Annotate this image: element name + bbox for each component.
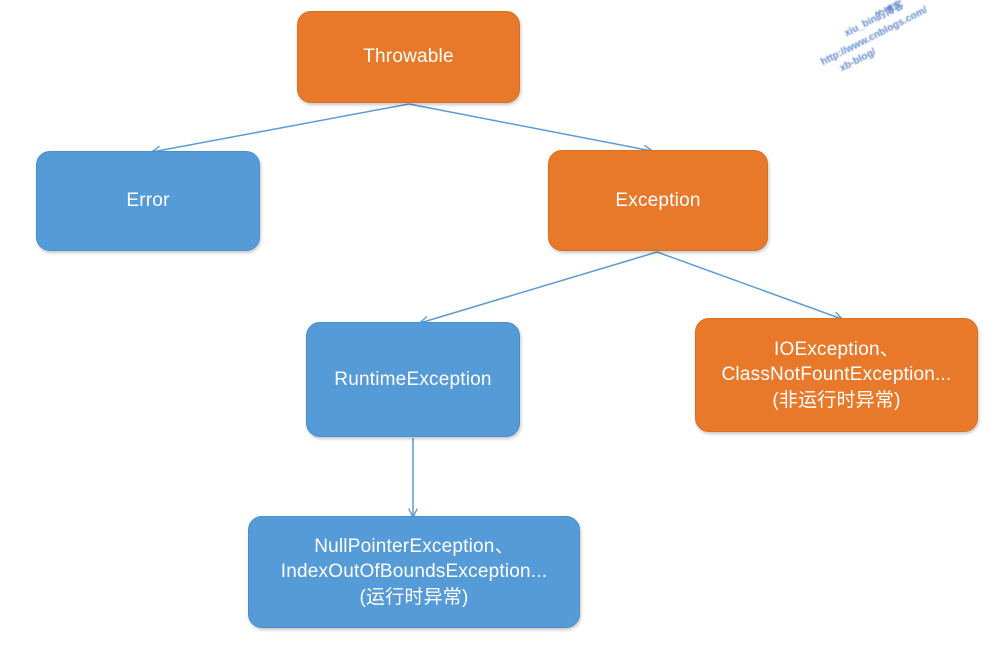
diagram-canvas: Throwable Error Exception RuntimeExcepti… xyxy=(0,0,1000,656)
edge-throwable-exception xyxy=(409,104,652,151)
node-runtime-exception[interactable]: RuntimeException xyxy=(306,322,520,437)
node-error[interactable]: Error xyxy=(36,151,260,251)
node-exception[interactable]: Exception xyxy=(548,150,768,251)
node-checked-exceptions-label: IOException、 ClassNotFountException... (… xyxy=(714,337,960,413)
watermark: xiu_bin的博客 http://www.cnblogs.com/ xb-bl… xyxy=(806,14,986,114)
edge-throwable-error xyxy=(152,104,409,152)
node-error-label: Error xyxy=(118,188,177,213)
watermark-text: xiu_bin的博客 http://www.cnblogs.com/ xb-bl… xyxy=(812,0,937,83)
node-runtime-exception-label: RuntimeException xyxy=(326,367,499,392)
watermark-author: xiu_bin的博客 xyxy=(842,0,923,41)
node-throwable-label: Throwable xyxy=(355,44,462,69)
edge-exception-checkedexceptions xyxy=(657,252,842,319)
watermark-url-line-2: xb-blog/ xyxy=(838,16,937,76)
watermark-url-line-1: http://www.cnblogs.com/ xyxy=(819,3,931,69)
edge-exception-runtimeexception xyxy=(420,252,657,323)
node-unchecked-exceptions[interactable]: NullPointerException、 IndexOutOfBoundsEx… xyxy=(248,516,580,628)
node-checked-exceptions[interactable]: IOException、 ClassNotFountException... (… xyxy=(695,318,978,432)
node-unchecked-exceptions-label: NullPointerException、 IndexOutOfBoundsEx… xyxy=(273,534,555,610)
node-throwable[interactable]: Throwable xyxy=(297,11,520,103)
node-exception-label: Exception xyxy=(607,188,708,213)
